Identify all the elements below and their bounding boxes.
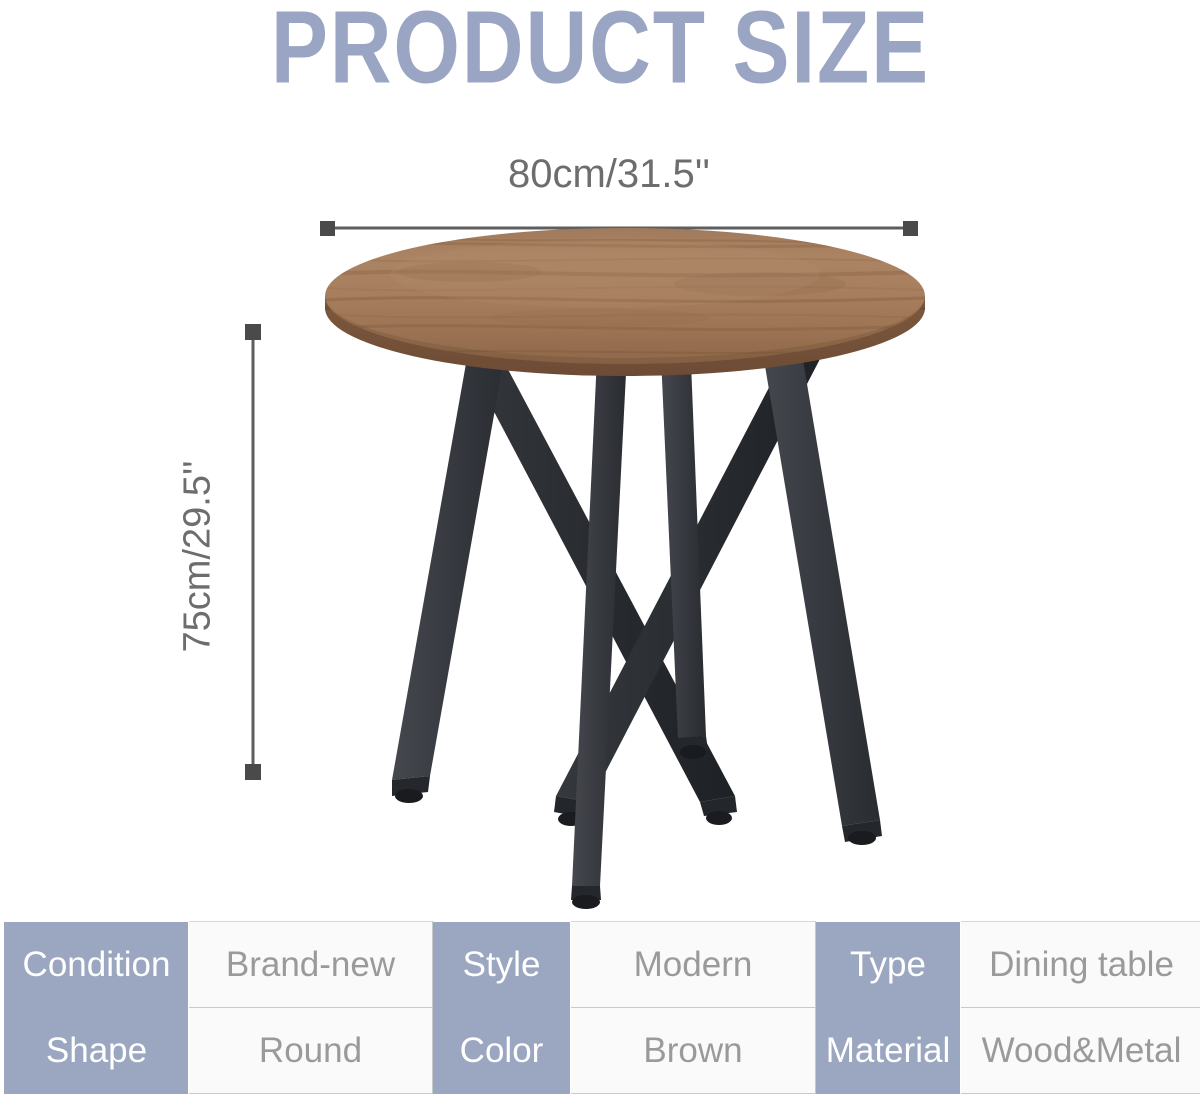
spec-label-condition: Condition — [5, 922, 189, 1008]
width-dimension-label: 80cm/31.5'' — [0, 152, 1200, 197]
table-leg-front-right — [760, 336, 882, 845]
table-row: Shape Round Color Brown Material Wood&Me… — [5, 1008, 1200, 1094]
table-row: Condition Brand-new Style Modern Type Di… — [5, 922, 1200, 1008]
spec-label-type: Type — [816, 922, 961, 1008]
width-dimension-value: 80cm/31.5'' — [508, 152, 710, 196]
page-title: PRODUCT SIZE — [270, 0, 929, 100]
spec-value-type: Dining table — [961, 922, 1200, 1008]
table-top — [325, 228, 925, 376]
spec-value-shape: Round — [189, 1008, 433, 1094]
spec-value-color: Brown — [571, 1008, 816, 1094]
spec-label-color: Color — [433, 1008, 571, 1094]
height-dimension-label: 75cm/29.5'' — [174, 406, 222, 706]
spec-label-material: Material — [816, 1008, 961, 1094]
spec-label-style: Style — [433, 922, 571, 1008]
page-title-banner: PRODUCT SIZE — [0, 0, 1200, 96]
height-dimension-line — [245, 324, 261, 780]
spec-value-style: Modern — [571, 922, 816, 1008]
height-dimension-value: 75cm/29.5'' — [177, 460, 220, 652]
table-legs — [392, 328, 882, 909]
product-illustration: 80cm/31.5'' 75cm/29.5'' — [0, 96, 1200, 916]
table-leg-front-left — [392, 336, 508, 803]
specification-table: Condition Brand-new Style Modern Type Di… — [4, 921, 1200, 1094]
spec-value-condition: Brand-new — [189, 922, 433, 1008]
spec-label-shape: Shape — [5, 1008, 189, 1094]
spec-value-material: Wood&Metal — [961, 1008, 1200, 1094]
